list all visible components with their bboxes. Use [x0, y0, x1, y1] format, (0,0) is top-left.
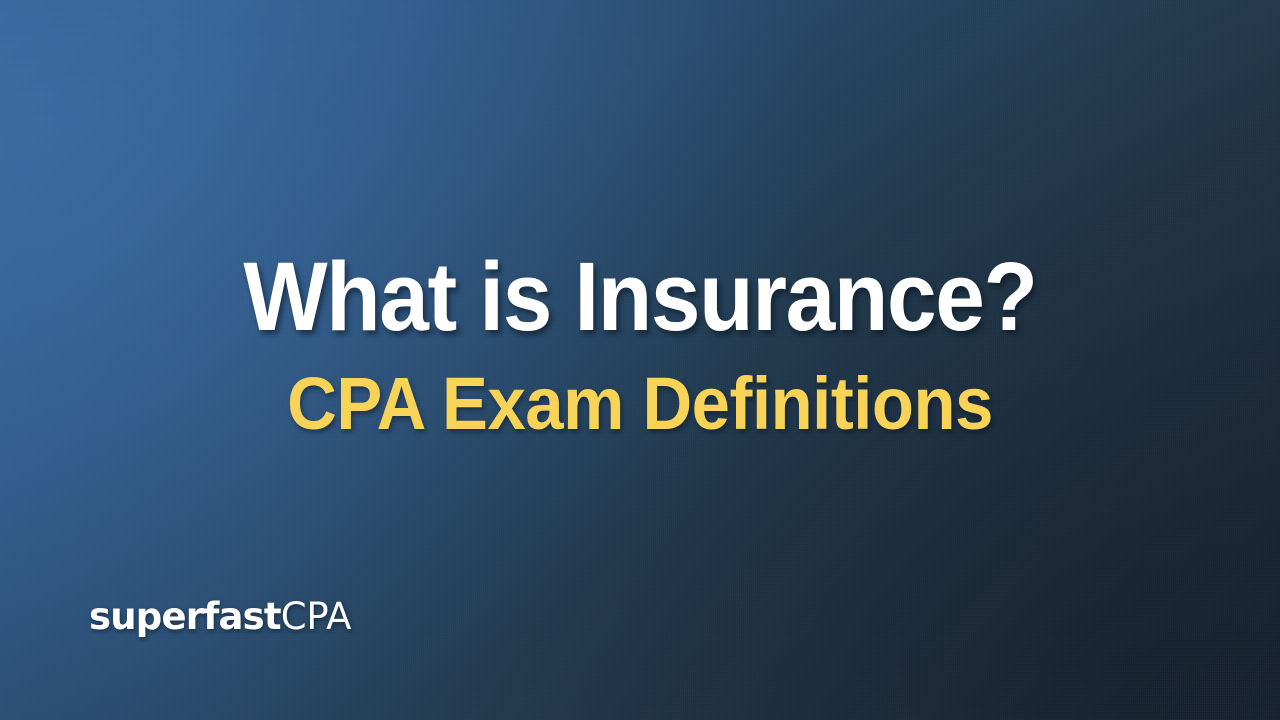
headline-block: What is Insurance? CPA Exam Definitions [0, 248, 1280, 441]
page-subtitle: CPA Exam Definitions [45, 367, 1235, 441]
brand-logo: superfastCPA [89, 598, 351, 635]
brand-logo-light-text: CPA [281, 595, 352, 638]
brand-logo-bold-text: superfast [89, 595, 281, 638]
title-slide: What is Insurance? CPA Exam Definitions … [0, 0, 1280, 720]
page-title: What is Insurance? [51, 248, 1229, 345]
